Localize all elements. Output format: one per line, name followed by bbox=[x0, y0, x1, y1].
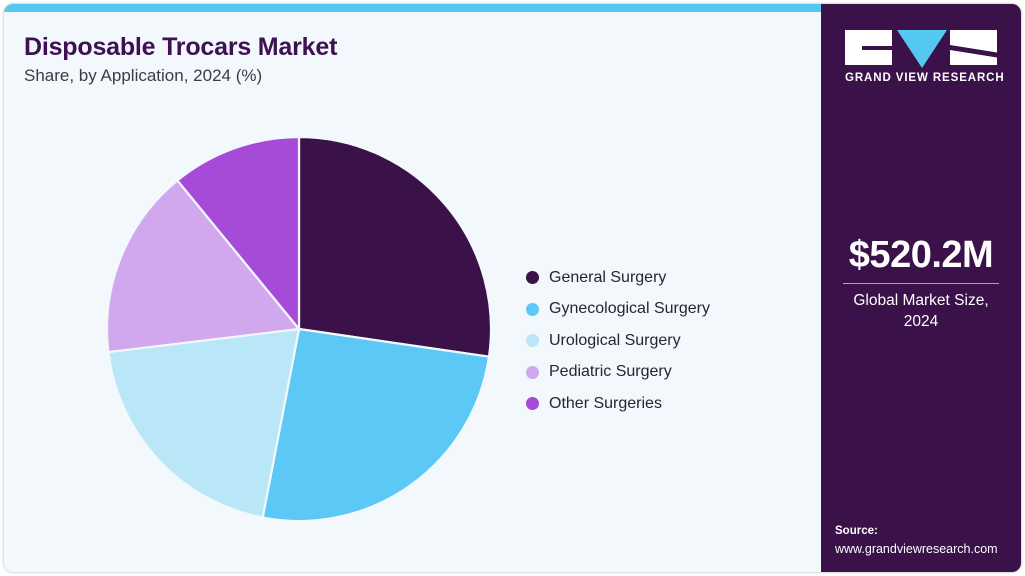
legend-item-urological-surgery[interactable]: Urological Surgery bbox=[526, 325, 710, 357]
legend-color-swatch-0 bbox=[526, 271, 539, 284]
gvr-logo-marks bbox=[845, 30, 997, 65]
legend-color-swatch-1 bbox=[526, 303, 539, 316]
legend-color-swatch-3 bbox=[526, 366, 539, 379]
chart-card: Disposable Trocars Market Share, by Appl… bbox=[4, 4, 1021, 572]
pie-chart-svg bbox=[104, 134, 494, 524]
chart-pane: Disposable Trocars Market Share, by Appl… bbox=[4, 12, 821, 572]
legend-label-2: Urological Surgery bbox=[549, 332, 681, 350]
stat-divider bbox=[843, 283, 999, 284]
page-subtitle: Share, by Application, 2024 (%) bbox=[24, 66, 262, 86]
pie-chart bbox=[104, 134, 494, 524]
logo-letter-r-icon bbox=[950, 30, 997, 65]
gvr-logo: GRAND VIEW RESEARCH bbox=[845, 30, 997, 84]
market-size-caption: Global Market Size, 2024 bbox=[821, 291, 1021, 333]
legend-color-swatch-2 bbox=[526, 334, 539, 347]
chart-legend: General Surgery Gynecological Surgery Ur… bbox=[526, 262, 710, 420]
legend-item-general-surgery[interactable]: General Surgery bbox=[526, 262, 710, 294]
pie-slice-gynecological-surgery[interactable] bbox=[263, 329, 489, 521]
source-block: Source: www.grandviewresearch.com bbox=[835, 523, 1021, 558]
market-size-value: $520.2M bbox=[821, 236, 1021, 276]
legend-color-swatch-4 bbox=[526, 397, 539, 410]
legend-label-0: General Surgery bbox=[549, 269, 666, 287]
source-url[interactable]: www.grandviewresearch.com bbox=[835, 540, 1021, 558]
brand-panel: GRAND VIEW RESEARCH $520.2M Global Marke… bbox=[821, 4, 1021, 572]
legend-label-1: Gynecological Surgery bbox=[549, 300, 710, 318]
legend-label-3: Pediatric Surgery bbox=[549, 363, 672, 381]
pie-slice-group bbox=[107, 137, 491, 521]
pie-slice-general-surgery[interactable] bbox=[299, 137, 491, 357]
market-size-stat: $520.2M Global Market Size, 2024 bbox=[821, 236, 1021, 333]
page-title: Disposable Trocars Market bbox=[24, 33, 337, 62]
legend-label-4: Other Surgeries bbox=[549, 395, 662, 413]
logo-letter-g-icon bbox=[845, 30, 892, 65]
top-accent-bar bbox=[4, 4, 821, 12]
source-label: Source: bbox=[835, 523, 1021, 540]
logo-wordmark: GRAND VIEW RESEARCH bbox=[845, 72, 997, 84]
legend-item-gynecological-surgery[interactable]: Gynecological Surgery bbox=[526, 294, 710, 326]
logo-letter-v-icon bbox=[897, 30, 947, 68]
legend-item-pediatric-surgery[interactable]: Pediatric Surgery bbox=[526, 357, 710, 389]
legend-item-other-surgeries[interactable]: Other Surgeries bbox=[526, 388, 710, 420]
